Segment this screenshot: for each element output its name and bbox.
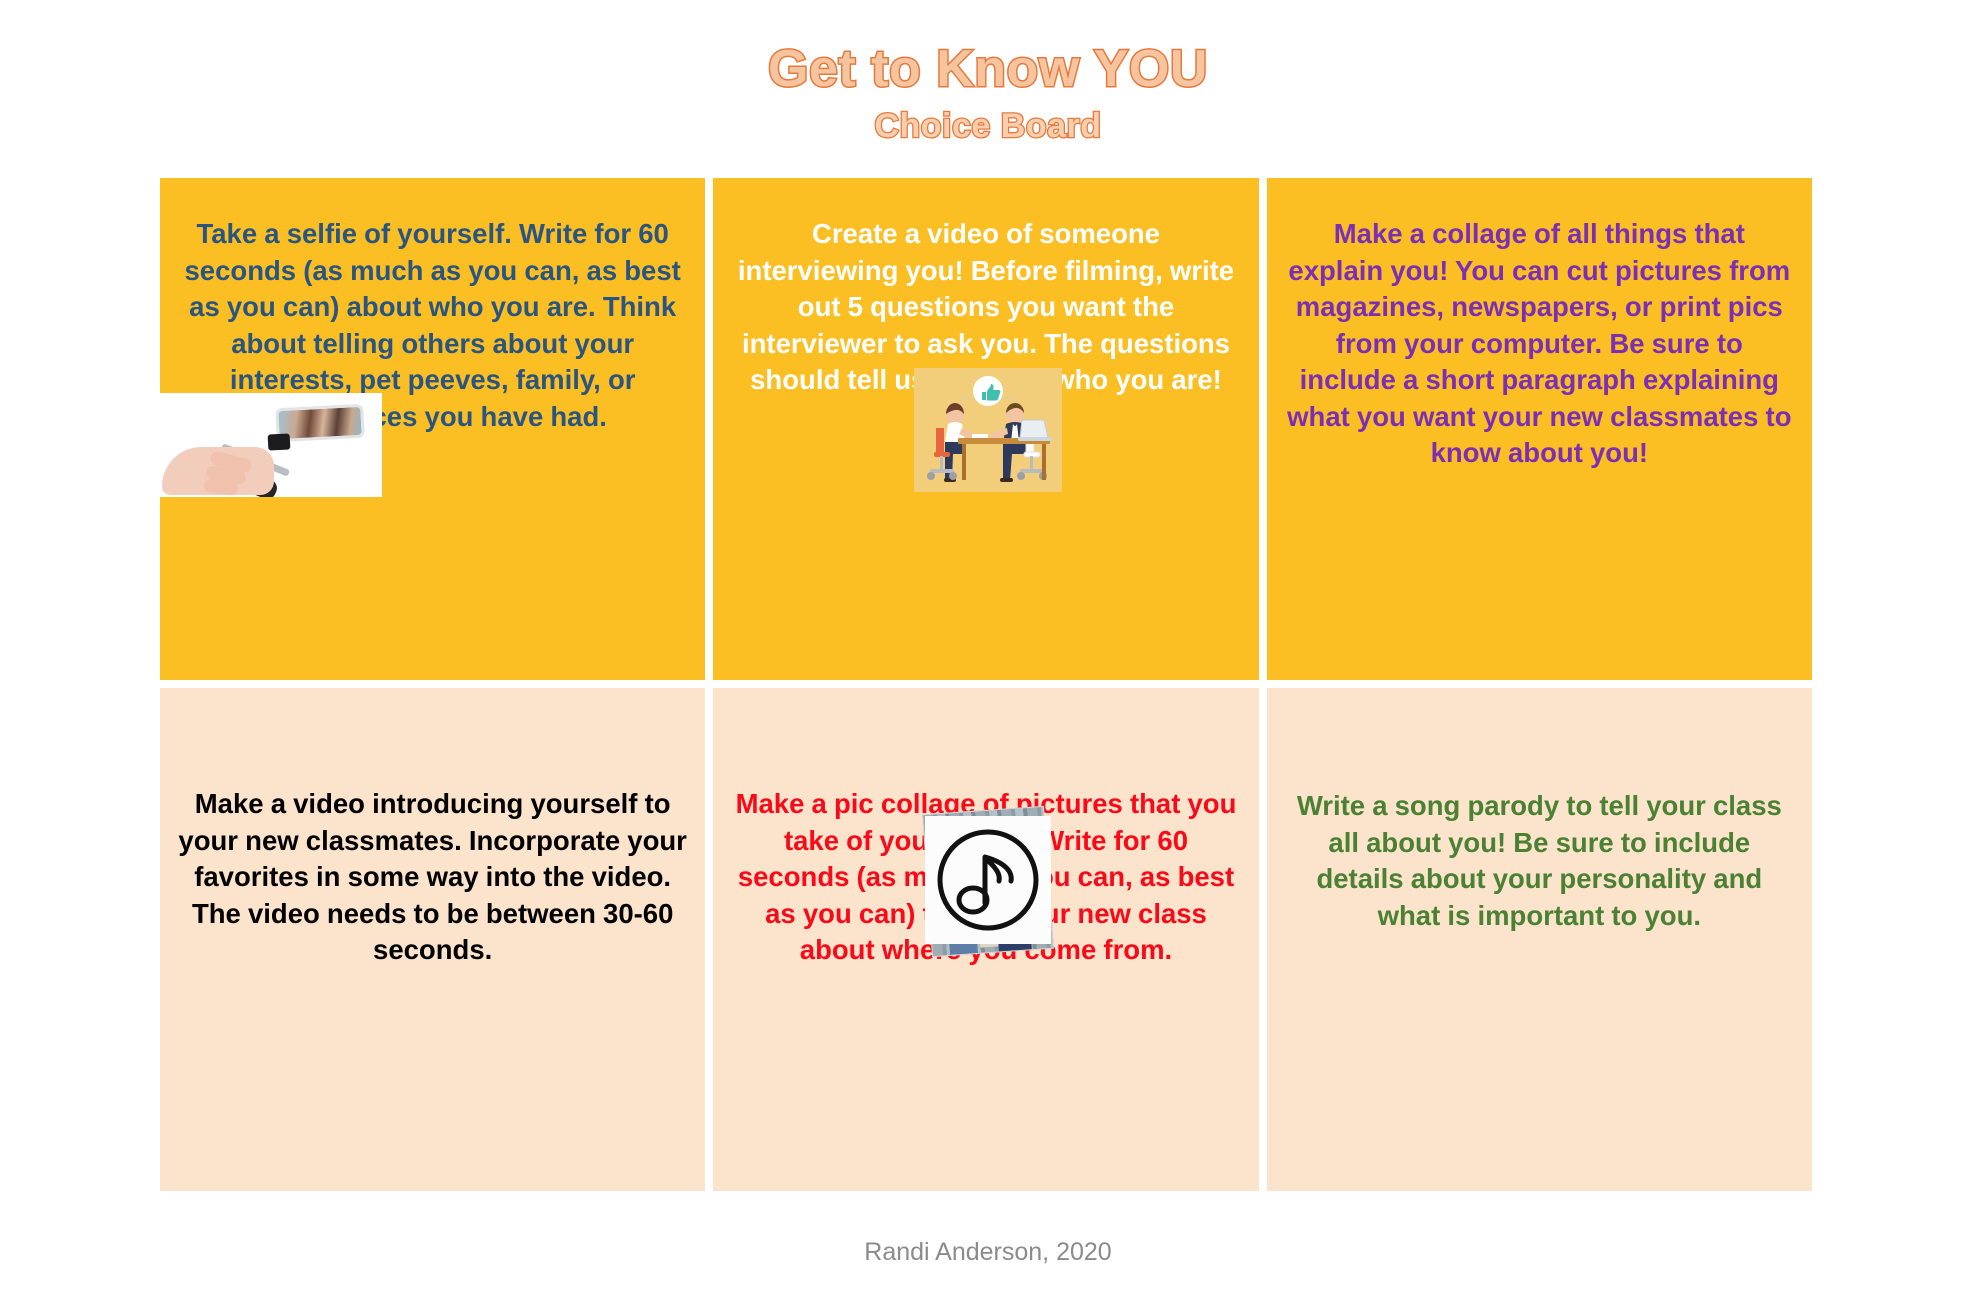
page-subtitle: Choice Board: [0, 106, 1976, 147]
choice-cell-6-text: Write a song parody to tell your class a…: [1285, 718, 1794, 934]
page-header: Get to Know YOU Choice Board: [0, 42, 1976, 146]
phone-clamp-icon: [268, 433, 291, 450]
choice-cell-3[interactable]: Make a collage of all things that explai…: [1267, 178, 1812, 680]
choice-board-grid: Take a selfie of yourself. Write for 60 …: [160, 178, 1812, 1191]
interview-illustration-icon: [914, 368, 1062, 492]
interview-svg: [914, 368, 1062, 492]
music-note-svg: [933, 825, 1043, 935]
page-title: Get to Know YOU: [0, 42, 1976, 97]
footer-credit: Randi Anderson, 2020: [0, 1238, 1976, 1267]
choice-cell-4[interactable]: Make a video introducing yourself to you…: [160, 688, 705, 1191]
selfie-stick-photo-icon: [160, 393, 382, 497]
choice-cell-6[interactable]: Write a song parody to tell your class a…: [1267, 688, 1812, 1191]
choice-cell-3-text: Make a collage of all things that explai…: [1285, 208, 1794, 472]
choice-cell-4-text: Make a video introducing yourself to you…: [178, 718, 687, 969]
music-note-icon: [925, 816, 1051, 944]
